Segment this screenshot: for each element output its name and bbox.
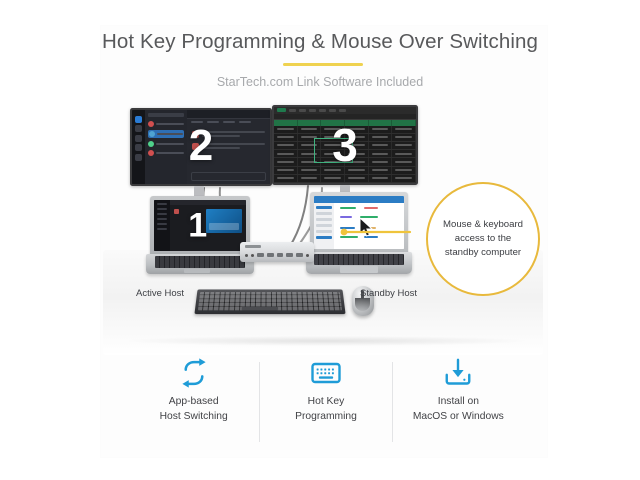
monitor-2-screen: 2 [132, 110, 270, 184]
callout-leader-line [340, 220, 432, 260]
laptop-1-keyboard[interactable] [155, 256, 245, 268]
keyboard-spacebar [242, 307, 279, 311]
feature-label: Install on MacOS or Windows [413, 395, 504, 424]
keyboard-icon [309, 358, 343, 388]
feature-app-based-host-switching[interactable]: App-based Host Switching [128, 358, 259, 424]
chat-workspace-rail [132, 110, 145, 184]
feature-install-on-macos-or-windows[interactable]: Install on MacOS or Windows [393, 358, 524, 424]
monitor-2-number-overlay: 2 [189, 124, 213, 168]
laptop-1-base [146, 254, 254, 274]
monitor-3-number-overlay: 3 [332, 122, 358, 168]
feature-label: App-based Host Switching [160, 395, 228, 424]
active-host-label: Active Host [136, 288, 184, 299]
mouse-body-shading [355, 298, 370, 311]
dock-brand-logo [245, 245, 261, 248]
callout-text: Mouse & keyboard access to the standby c… [428, 218, 538, 260]
feature-strip: App-based Host Switching [128, 358, 524, 442]
dock-port-row [245, 252, 309, 258]
desk-scene: 2 [108, 100, 538, 350]
chat-channel-sidebar [145, 110, 187, 184]
laptop-1-trackpad[interactable] [184, 269, 210, 273]
laptop-1-lid: 1 [150, 196, 250, 256]
laptop-2-app-titlebar [314, 196, 404, 203]
sync-arrows-icon [177, 358, 211, 388]
desktop-keyboard[interactable] [194, 289, 345, 314]
page-title: Hot Key Programming & Mouse Over Switchi… [0, 30, 640, 54]
page-subtitle: StarTech.com Link Software Included [0, 75, 640, 89]
callout-bubble: Mouse & keyboard access to the standby c… [426, 182, 540, 296]
monitor-3-bezel: 3 [272, 105, 418, 185]
title-underline-rule [283, 63, 363, 66]
product-infographic: Hot Key Programming & Mouse Over Switchi… [0, 0, 640, 480]
spreadsheet-ribbon [274, 107, 416, 114]
monitor-3[interactable]: 3 [272, 105, 418, 185]
download-icon [441, 358, 475, 388]
laptop-2-app-sidebar [314, 203, 334, 249]
dock-body [240, 242, 314, 262]
laptop-1-active-host[interactable]: 1 [146, 196, 254, 274]
monitor-3-screen: 3 [274, 107, 416, 183]
monitor-2-bezel: 2 [130, 108, 272, 186]
laptop-1-number-overlay: 1 [188, 208, 207, 242]
monitor-2[interactable]: 2 [130, 108, 272, 186]
feature-label: Hot Key Programming [295, 395, 357, 424]
kvm-docking-station[interactable] [240, 242, 314, 262]
laptop-2-trackpad[interactable] [340, 266, 378, 273]
standby-host-label: Standby Host [360, 288, 417, 299]
feature-hot-key-programming[interactable]: Hot Key Programming [260, 358, 391, 424]
